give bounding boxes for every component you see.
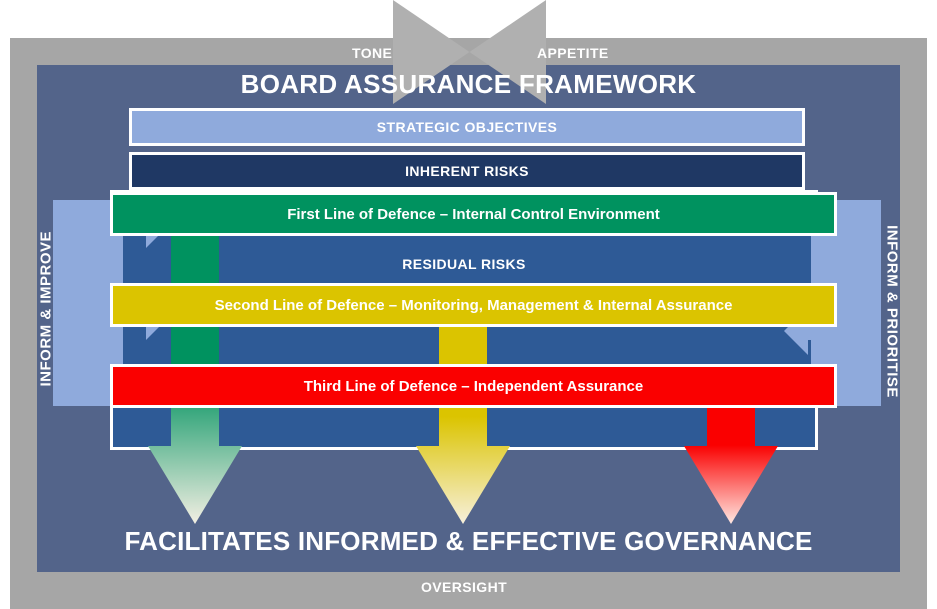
band-third-line-of-defence: Third Line of Defence – Independent Assu…	[110, 364, 837, 408]
page-title: BOARD ASSURANCE FRAMEWORK	[37, 69, 900, 100]
label-oversight: OVERSIGHT	[421, 579, 507, 595]
band-strategic-objectives: STRATEGIC OBJECTIVES	[129, 108, 805, 146]
side-arrow-right-label: INFORM & PRIORITISE	[884, 212, 901, 412]
board-assurance-framework-diagram: TONE APPETITE OVERSIGHT BOARD ASSURANCE …	[0, 0, 937, 609]
band-first-line-of-defence: First Line of Defence – Internal Control…	[110, 192, 837, 236]
label-appetite: APPETITE	[537, 45, 609, 61]
governance-statement: FACILITATES INFORMED & EFFECTIVE GOVERNA…	[37, 526, 900, 557]
label-tone: TONE	[352, 45, 392, 61]
side-arrow-left-label: INFORM & IMPROVE	[38, 237, 55, 387]
band-inherent-risks: INHERENT RISKS	[129, 152, 805, 190]
band-second-line-of-defence: Second Line of Defence – Monitoring, Man…	[110, 283, 837, 327]
